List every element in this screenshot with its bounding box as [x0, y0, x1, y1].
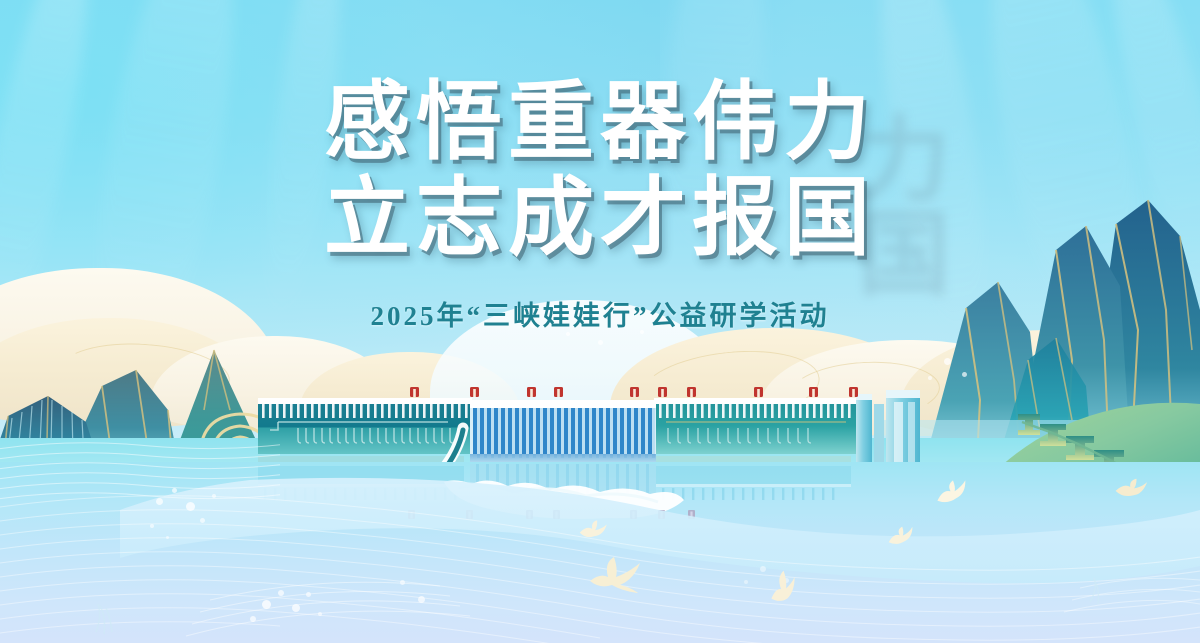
page-subtitle: 2025年“三峡娃娃行”公益研学活动 [0, 294, 1200, 333]
water-bubble [200, 518, 205, 523]
water-bubble [306, 592, 311, 597]
dam-spillway [470, 400, 656, 468]
water-bubble [318, 612, 322, 616]
water-bubble [944, 358, 951, 365]
water-bubble [262, 600, 271, 609]
water-bubble [250, 616, 256, 622]
water-bubble [156, 498, 163, 505]
reservoir-ripples [0, 436, 280, 516]
water-bubble [166, 536, 169, 539]
swallow-bird [586, 555, 644, 597]
water-bubble [278, 590, 284, 596]
page-title: 感悟重器伟力 立志成才报国 [0, 74, 1200, 266]
water-bubble [418, 596, 425, 603]
water-bubble [292, 604, 300, 612]
water-bubble [172, 488, 177, 493]
swallow-bird [1113, 476, 1150, 503]
water-bubble [212, 494, 216, 498]
water-bubble [598, 340, 603, 345]
swallow-bird [577, 518, 609, 543]
water-bubble [150, 524, 154, 528]
water-bubble [400, 580, 405, 585]
water-bubble [186, 502, 195, 511]
water-bubble [744, 580, 748, 584]
water-bubble [760, 566, 766, 572]
poster-banner: 力 国 [0, 0, 1200, 643]
swallow-bird [764, 569, 800, 607]
water-bubble [928, 376, 932, 380]
dam-left-section [258, 398, 472, 466]
headline-line-1: 感悟重器伟力 [0, 74, 1200, 170]
dam-right-section [654, 398, 858, 466]
dam-crest-flags [258, 384, 958, 404]
headline-line-2: 立志成才报国 [0, 170, 1200, 266]
water-bubble [962, 372, 967, 377]
